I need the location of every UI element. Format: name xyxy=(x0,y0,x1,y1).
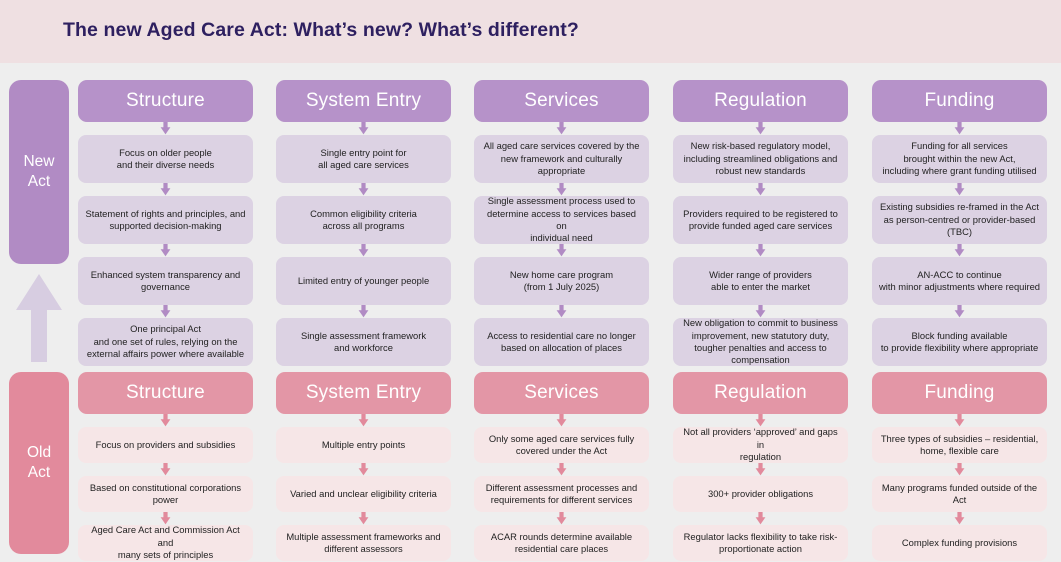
flow-node[interactable]: Funding for all services brought within … xyxy=(872,135,1047,183)
column-system-entry-old-act: System EntryMultiple entry pointsVaried … xyxy=(276,372,451,561)
flow-connector-arrow-icon xyxy=(673,463,848,476)
flow-node[interactable]: Focus on older people and their diverse … xyxy=(78,135,253,183)
column-regulation-old-act: RegulationNot all providers ‘approved’ a… xyxy=(673,372,848,561)
flow-node-text: Common eligibility criteria across all p… xyxy=(310,208,417,233)
column-services-new-act: ServicesAll aged care services covered b… xyxy=(474,80,649,366)
flow-node[interactable]: Common eligibility criteria across all p… xyxy=(276,196,451,244)
flow-node-text: Single assessment process used to determ… xyxy=(481,195,642,245)
flow-node[interactable]: Limited entry of younger people xyxy=(276,257,451,305)
column-header-label: Regulation xyxy=(714,382,807,404)
flow-node-text: Providers required to be registered to p… xyxy=(683,208,838,233)
flow-node-text: Existing subsidies re-framed in the Act … xyxy=(880,201,1039,238)
flow-node[interactable]: Statement of rights and principles, and … xyxy=(78,196,253,244)
flow-node-text: Aged Care Act and Commission Act and man… xyxy=(85,524,246,561)
flow-node[interactable]: Single assessment process used to determ… xyxy=(474,196,649,244)
flow-node-text: Not all providers ‘approved’ and gaps in… xyxy=(680,426,841,463)
flow-node[interactable]: ACAR rounds determine available resident… xyxy=(474,525,649,561)
flow-node-text: Varied and unclear eligibility criteria xyxy=(290,488,437,500)
flow-node[interactable]: Existing subsidies re-framed in the Act … xyxy=(872,196,1047,244)
flow-node-text: Statement of rights and principles, and … xyxy=(86,208,246,233)
flow-connector-arrow-icon xyxy=(78,463,253,476)
flow-connector-arrow-icon xyxy=(474,414,649,427)
flow-node[interactable]: New obligation to commit to business imp… xyxy=(673,318,848,366)
header-band: The new Aged Care Act: What’s new? What’… xyxy=(0,0,1061,63)
flow-connector-arrow-icon xyxy=(872,122,1047,135)
flow-node-text: All aged care services covered by the ne… xyxy=(484,140,640,177)
flow-connector-arrow-icon xyxy=(673,122,848,135)
flow-node[interactable]: Only some aged care services fully cover… xyxy=(474,427,649,463)
column-header-label: System Entry xyxy=(306,90,421,112)
flow-node-text: Funding for all services brought within … xyxy=(882,140,1036,177)
column-header-funding-old[interactable]: Funding xyxy=(872,372,1047,414)
flow-connector-arrow-icon xyxy=(78,122,253,135)
flow-node[interactable]: Aged Care Act and Commission Act and man… xyxy=(78,525,253,561)
flow-connector-arrow-icon xyxy=(78,244,253,257)
flow-node-text: Complex funding provisions xyxy=(902,537,1017,549)
flow-node-text: Access to residential care no longer bas… xyxy=(487,330,636,355)
flow-node[interactable]: Many programs funded outside of the Act xyxy=(872,476,1047,512)
flow-node[interactable]: Multiple entry points xyxy=(276,427,451,463)
flow-node-text: Three types of subsidies – residential, … xyxy=(881,433,1038,458)
rail-label-old-act-text: Old Act xyxy=(27,443,51,483)
column-system-entry-new-act: System EntrySingle entry point for all a… xyxy=(276,80,451,366)
flow-node[interactable]: Focus on providers and subsidies xyxy=(78,427,253,463)
column-header-label: Funding xyxy=(924,382,994,404)
flow-connector-arrow-icon xyxy=(276,414,451,427)
flow-connector-arrow-icon xyxy=(872,183,1047,196)
flow-node-text: Enhanced system transparency and governa… xyxy=(91,269,241,294)
flow-connector-arrow-icon xyxy=(78,305,253,318)
column-header-label: Structure xyxy=(126,382,205,404)
column-header-label: Regulation xyxy=(714,90,807,112)
page-title: The new Aged Care Act: What’s new? What’… xyxy=(63,19,579,42)
flow-node[interactable]: Single assessment framework and workforc… xyxy=(276,318,451,366)
flow-connector-arrow-icon xyxy=(474,305,649,318)
flow-node[interactable]: One principal Act and one set of rules, … xyxy=(78,318,253,366)
flow-connector-arrow-icon xyxy=(474,244,649,257)
column-header-services-new[interactable]: Services xyxy=(474,80,649,122)
flow-connector-arrow-icon xyxy=(872,512,1047,525)
flow-connector-arrow-icon xyxy=(474,122,649,135)
flow-connector-arrow-icon xyxy=(276,244,451,257)
column-structure-old-act: StructureFocus on providers and subsidie… xyxy=(78,372,253,561)
flow-node[interactable]: AN-ACC to continue with minor adjustment… xyxy=(872,257,1047,305)
flow-connector-arrow-icon xyxy=(872,244,1047,257)
flow-node[interactable]: Three types of subsidies – residential, … xyxy=(872,427,1047,463)
flow-node-text: AN-ACC to continue with minor adjustment… xyxy=(879,269,1040,294)
column-header-structure-old[interactable]: Structure xyxy=(78,372,253,414)
flow-connector-arrow-icon xyxy=(474,183,649,196)
flow-connector-arrow-icon xyxy=(673,414,848,427)
flow-node[interactable]: All aged care services covered by the ne… xyxy=(474,135,649,183)
rail-label-new-act-text: New Act xyxy=(23,152,54,192)
flow-node[interactable]: New risk-based regulatory model, includi… xyxy=(673,135,848,183)
flow-node-text: 300+ provider obligations xyxy=(708,488,813,500)
flow-node[interactable]: Multiple assessment frameworks and diffe… xyxy=(276,525,451,561)
flow-node[interactable]: Single entry point for all aged care ser… xyxy=(276,135,451,183)
column-header-system-entry-old[interactable]: System Entry xyxy=(276,372,451,414)
flow-node[interactable]: Providers required to be registered to p… xyxy=(673,196,848,244)
flow-node-text: Single assessment framework and workforc… xyxy=(301,330,426,355)
flow-node[interactable]: Block funding available to provide flexi… xyxy=(872,318,1047,366)
flow-node-text: New home care program (from 1 July 2025) xyxy=(510,269,613,294)
flow-node[interactable]: Complex funding provisions xyxy=(872,525,1047,561)
flow-node-text: Different assessment processes and requi… xyxy=(486,482,637,507)
column-services-old-act: ServicesOnly some aged care services ful… xyxy=(474,372,649,561)
column-header-system-entry-new[interactable]: System Entry xyxy=(276,80,451,122)
flow-node-text: Single entry point for all aged care ser… xyxy=(318,147,409,172)
column-header-label: System Entry xyxy=(306,382,421,404)
flow-node-text: ACAR rounds determine available resident… xyxy=(491,531,632,556)
column-funding-old-act: FundingThree types of subsidies – reside… xyxy=(872,372,1047,561)
flow-connector-arrow-icon xyxy=(276,512,451,525)
flow-node[interactable]: Access to residential care no longer bas… xyxy=(474,318,649,366)
flow-node-text: Regulator lacks flexibility to take risk… xyxy=(684,531,838,556)
column-header-services-old[interactable]: Services xyxy=(474,372,649,414)
flow-node[interactable]: Wider range of providers able to enter t… xyxy=(673,257,848,305)
flow-node-text: Multiple entry points xyxy=(322,439,405,451)
flow-node-text: Only some aged care services fully cover… xyxy=(489,433,634,458)
column-header-label: Structure xyxy=(126,90,205,112)
flow-connector-arrow-icon xyxy=(474,512,649,525)
infographic-page: The new Aged Care Act: What’s new? What’… xyxy=(0,0,1061,562)
flow-node-text: Limited entry of younger people xyxy=(298,275,429,287)
flow-node[interactable]: Enhanced system transparency and governa… xyxy=(78,257,253,305)
flow-connector-arrow-icon xyxy=(872,305,1047,318)
flow-node[interactable]: Regulator lacks flexibility to take risk… xyxy=(673,525,848,561)
flow-node-text: New risk-based regulatory model, includi… xyxy=(684,140,838,177)
flow-node-text: One principal Act and one set of rules, … xyxy=(87,323,244,360)
flow-connector-arrow-icon xyxy=(276,305,451,318)
column-header-structure-new[interactable]: Structure xyxy=(78,80,253,122)
flow-connector-arrow-icon xyxy=(78,183,253,196)
column-structure-new-act: StructureFocus on older people and their… xyxy=(78,80,253,366)
flow-node-text: Multiple assessment frameworks and diffe… xyxy=(286,531,440,556)
flow-connector-arrow-icon xyxy=(673,305,848,318)
flow-connector-arrow-icon xyxy=(872,414,1047,427)
flow-node-text: Many programs funded outside of the Act xyxy=(882,482,1037,507)
flow-connector-arrow-icon xyxy=(673,183,848,196)
flow-node-text: Wider range of providers able to enter t… xyxy=(709,269,812,294)
flow-connector-arrow-icon xyxy=(474,463,649,476)
flow-node-text: Focus on providers and subsidies xyxy=(96,439,236,451)
column-header-regulation-new[interactable]: Regulation xyxy=(673,80,848,122)
flow-node[interactable]: Based on constitutional corporations pow… xyxy=(78,476,253,512)
flow-connector-arrow-icon xyxy=(276,122,451,135)
flow-node[interactable]: New home care program (from 1 July 2025) xyxy=(474,257,649,305)
flow-node[interactable]: Not all providers ‘approved’ and gaps in… xyxy=(673,427,848,463)
column-regulation-new-act: RegulationNew risk-based regulatory mode… xyxy=(673,80,848,366)
flow-node-text: Block funding available to provide flexi… xyxy=(881,330,1038,355)
column-header-regulation-old[interactable]: Regulation xyxy=(673,372,848,414)
flow-connector-arrow-icon xyxy=(673,512,848,525)
column-header-label: Funding xyxy=(924,90,994,112)
rail-label-new-act: New Act xyxy=(9,80,69,264)
flow-node-text: Based on constitutional corporations pow… xyxy=(90,482,241,507)
flow-node[interactable]: Different assessment processes and requi… xyxy=(474,476,649,512)
flow-connector-arrow-icon xyxy=(673,244,848,257)
flow-node-text: Focus on older people and their diverse … xyxy=(117,147,214,172)
column-header-funding-new[interactable]: Funding xyxy=(872,80,1047,122)
flow-connector-arrow-icon xyxy=(78,414,253,427)
flow-node-text: New obligation to commit to business imp… xyxy=(683,317,838,367)
flow-node[interactable]: 300+ provider obligations xyxy=(673,476,848,512)
rail-label-old-act: Old Act xyxy=(9,372,69,554)
up-arrow-icon xyxy=(14,272,64,364)
column-header-label: Services xyxy=(524,382,598,404)
column-header-label: Services xyxy=(524,90,598,112)
flow-connector-arrow-icon xyxy=(872,463,1047,476)
flow-node[interactable]: Varied and unclear eligibility criteria xyxy=(276,476,451,512)
flow-connector-arrow-icon xyxy=(276,463,451,476)
column-funding-new-act: FundingFunding for all services brought … xyxy=(872,80,1047,366)
flow-connector-arrow-icon xyxy=(78,512,253,525)
flow-connector-arrow-icon xyxy=(276,183,451,196)
